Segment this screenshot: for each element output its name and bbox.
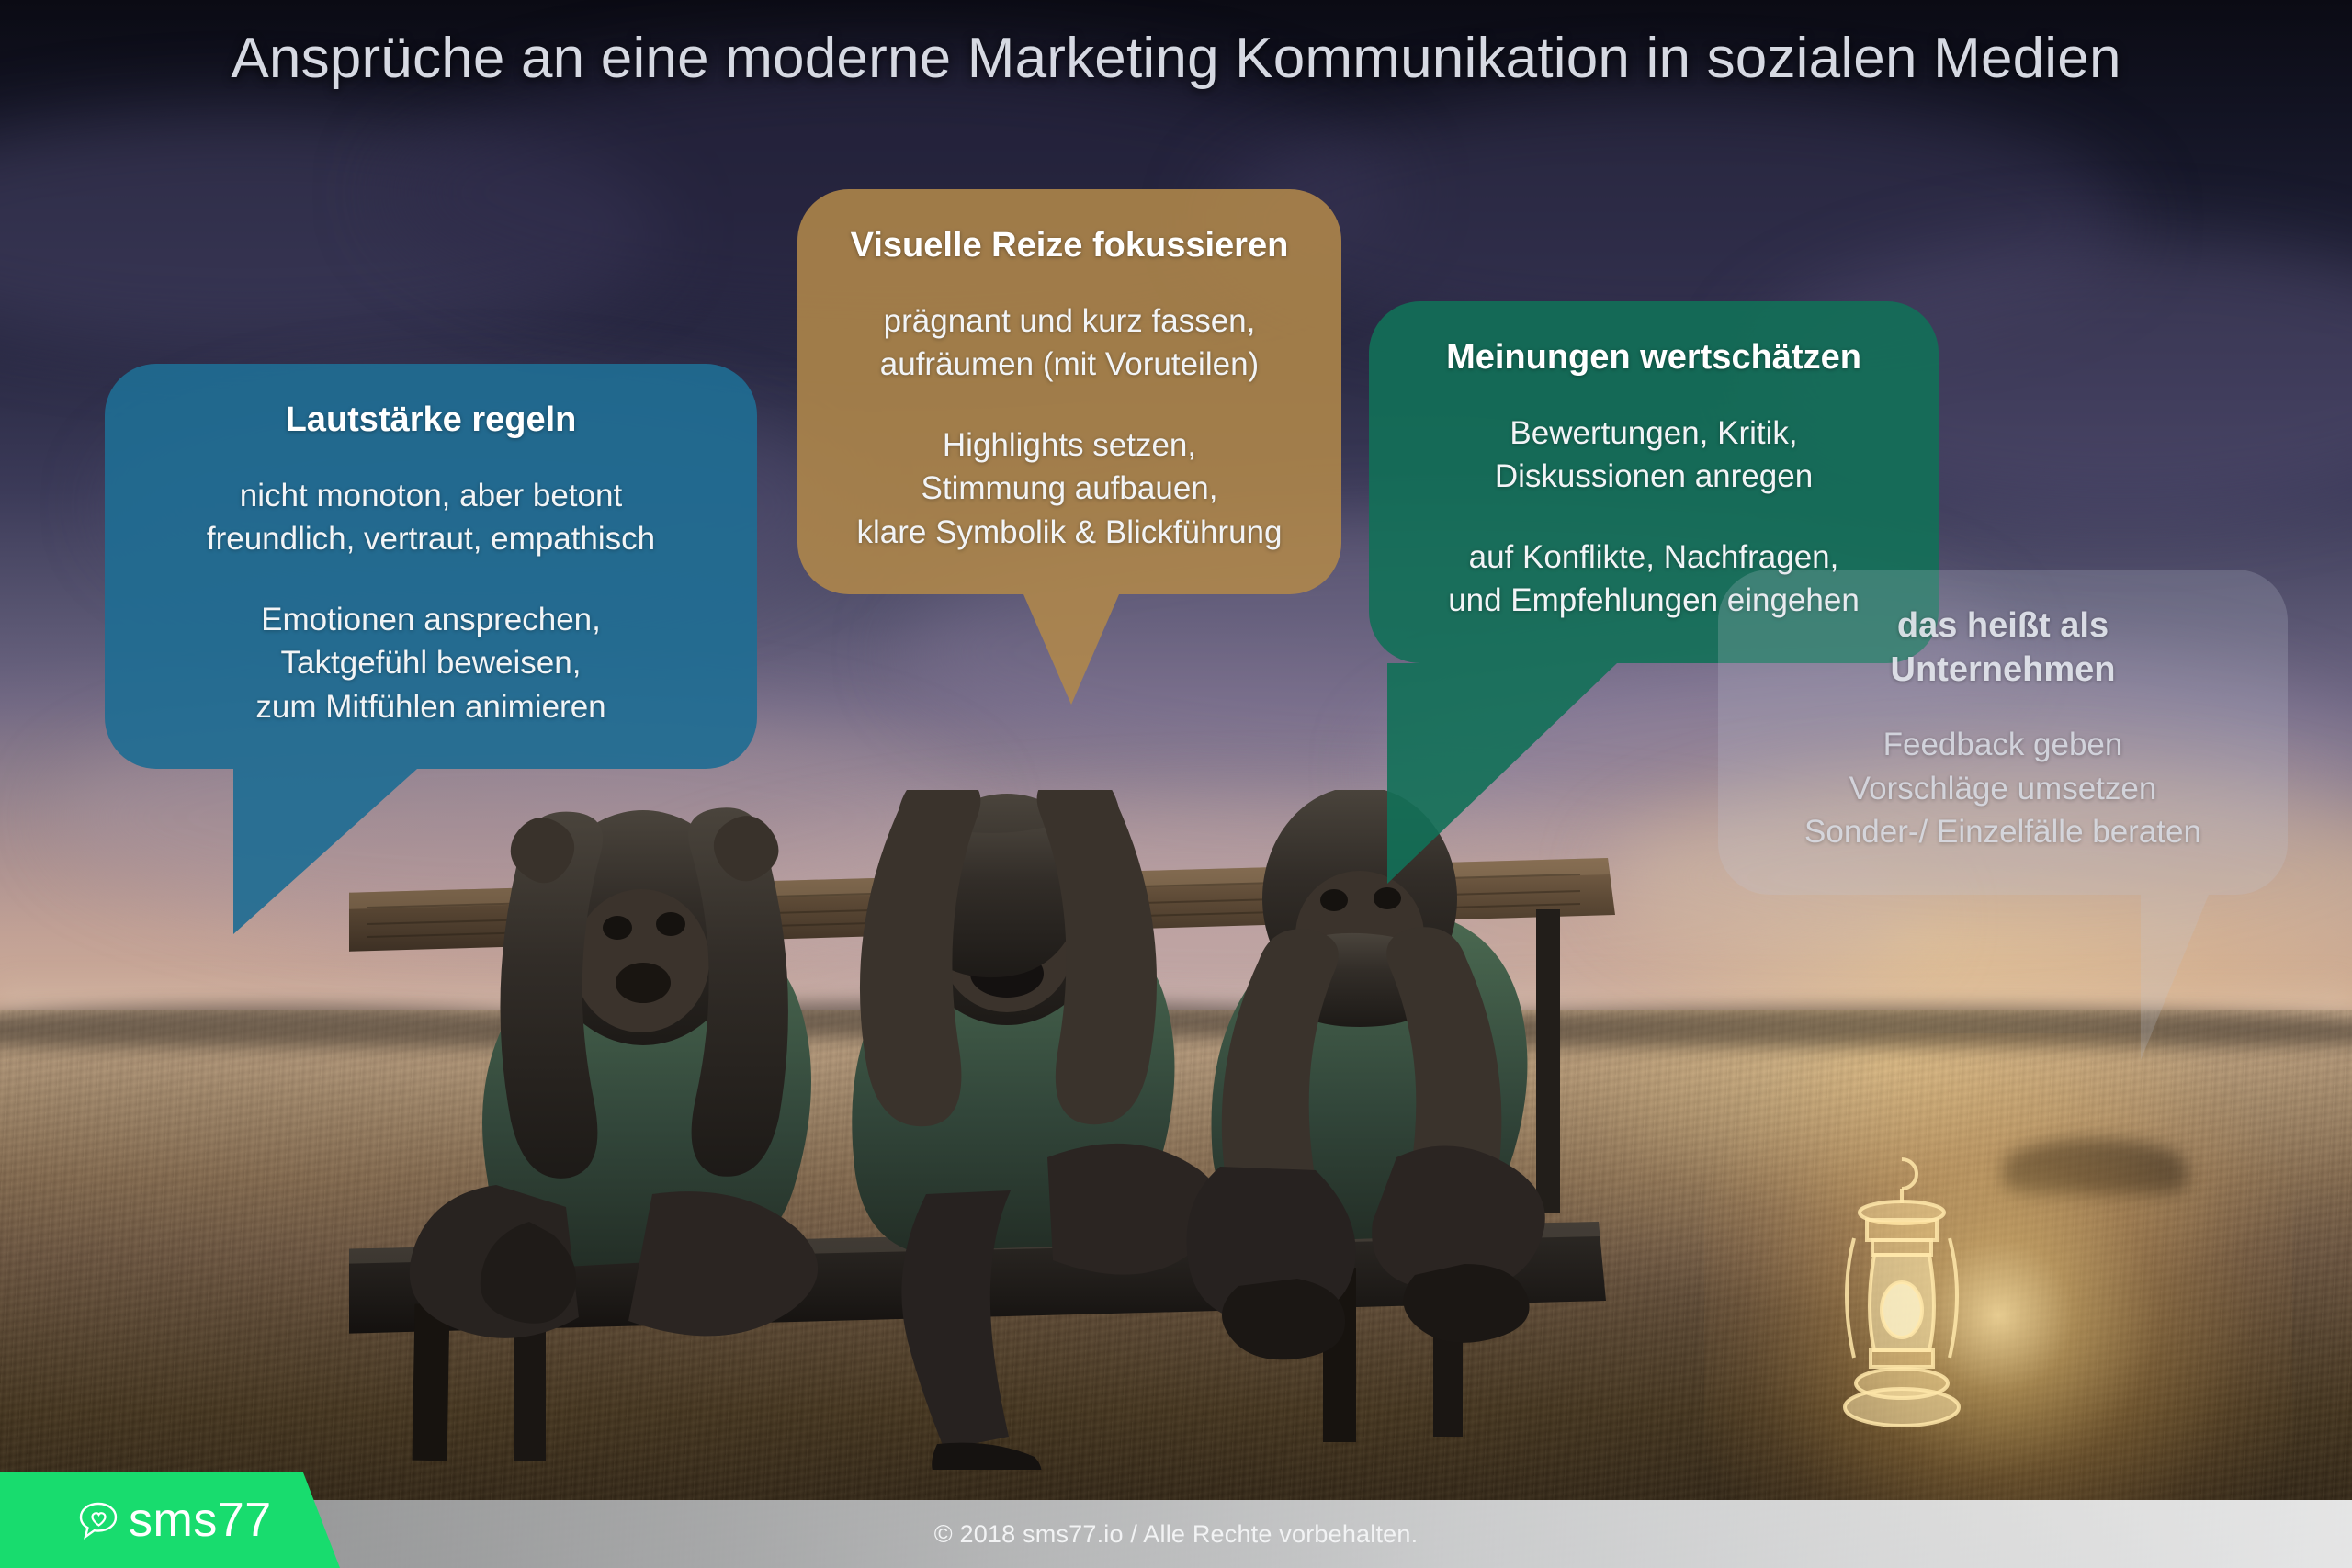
bubble-paragraph-1-visuelle-reize: prägnant und kurz fassen,aufräumen (mit … — [838, 299, 1301, 387]
bubble-tail-green — [1387, 663, 1617, 884]
sms77-logo-text: sms77 — [129, 1496, 272, 1544]
monkey-hear-no-evil — [410, 807, 818, 1338]
page-title: Ansprüche an eine moderne Marketing Komm… — [0, 26, 2352, 91]
bubble-title-lautstaerke: Lautstärke regeln — [145, 399, 717, 443]
three-wise-monkeys-statue — [349, 790, 1654, 1470]
speech-bubble-heart-icon — [77, 1499, 119, 1541]
bubble-title-meinungen: Meinungen wertschätzen — [1409, 336, 1898, 380]
bubble-tail-gray — [2141, 895, 2209, 1060]
bubble-visuelle-reize[interactable]: Visuelle Reize fokussieren prägnant und … — [797, 189, 1341, 594]
bubble-title-visuelle-reize: Visuelle Reize fokussieren — [838, 224, 1301, 268]
bubble-title-unternehmen: das heißt alsUnternehmen — [1758, 604, 2247, 692]
bubble-das-heisst-als-unternehmen[interactable]: das heißt alsUnternehmen Feedback gebenV… — [1718, 570, 2288, 895]
bubble-tail-orange — [1023, 594, 1119, 705]
lantern-icon — [1819, 1148, 1984, 1451]
bubble-tail-blue — [233, 769, 417, 934]
bubble-paragraph-1-lautstaerke: nicht monoton, aber betontfreundlich, ve… — [145, 474, 717, 561]
footer-copyright: © 2018 sms77.io / Alle Rechte vorbehalte… — [0, 1500, 2352, 1568]
sms77-logo[interactable]: sms77 — [0, 1472, 340, 1568]
bubble-paragraph-2-visuelle-reize: Highlights setzen,Stimmung aufbauen,klar… — [838, 423, 1301, 555]
tree-clump-right — [2003, 1139, 2187, 1194]
bubble-paragraph-2-lautstaerke: Emotionen ansprechen,Taktgefühl beweisen… — [145, 598, 717, 729]
bubble-lautstaerke-regeln[interactable]: Lautstärke regeln nicht monoton, aber be… — [105, 364, 757, 769]
bubble-paragraph-1-unternehmen: Feedback gebenVorschläge umsetzenSonder-… — [1758, 723, 2247, 854]
infographic-canvas: Ansprüche an eine moderne Marketing Komm… — [0, 0, 2352, 1568]
bubble-paragraph-1-meinungen: Bewertungen, Kritik,Diskussionen anregen — [1409, 412, 1898, 499]
